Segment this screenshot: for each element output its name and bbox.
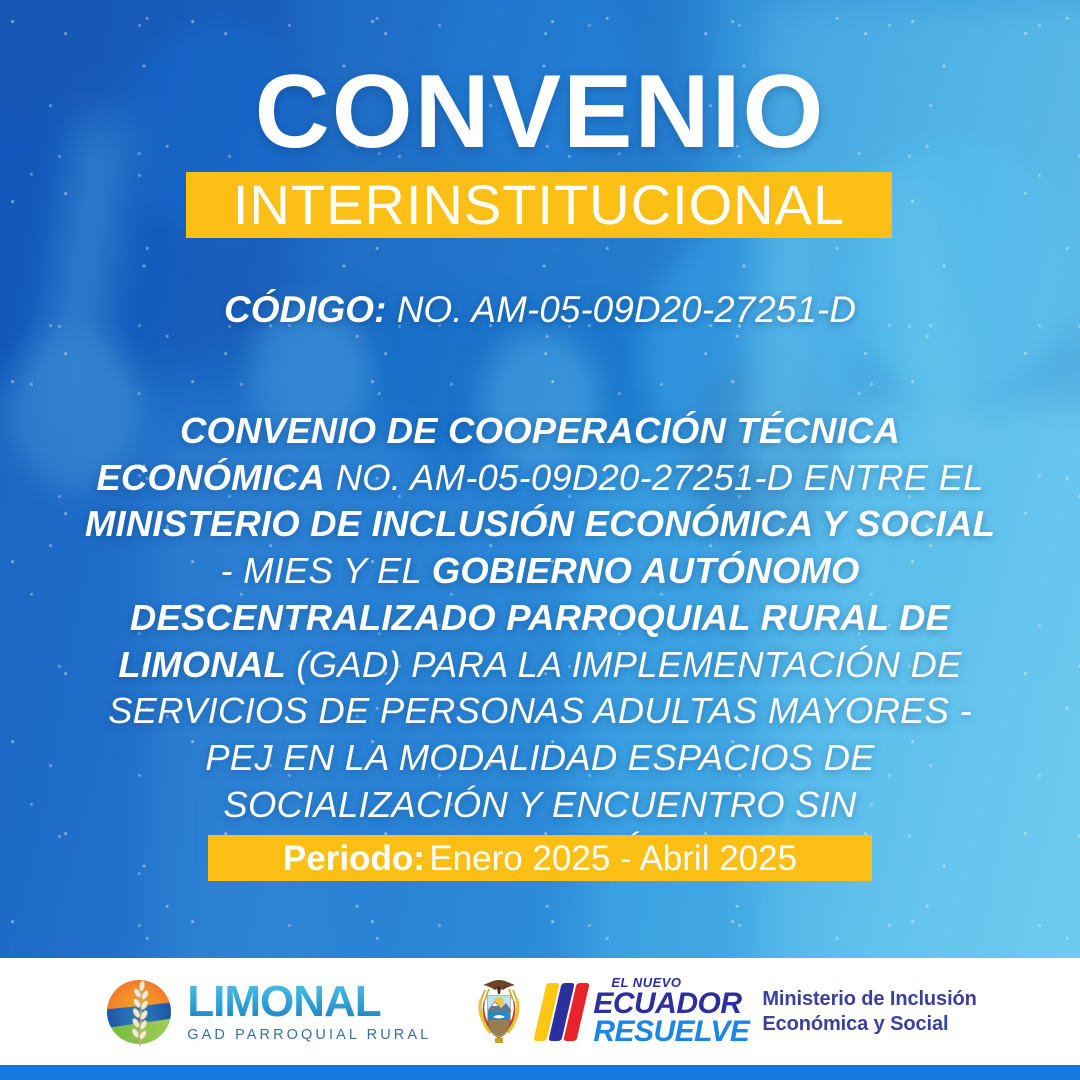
agreement-description: CONVENIO DE COOPERACIÓN TÉCNICA ECONÓMIC…: [78, 408, 1002, 875]
ecuador-flag-stripes-icon: [540, 983, 586, 1041]
periodo-banner: Periodo: Enero 2025 - Abril 2025: [208, 835, 872, 881]
government-logos: EL NUEVO ECUADOR RESUELVE Ministerio de …: [471, 976, 976, 1048]
codigo-label: CÓDIGO:: [224, 289, 386, 330]
body-segment-2: NO. AM-05-09D20-27251-D ENTRE EL: [325, 457, 983, 498]
ecuador-resuelve-logo: EL NUEVO ECUADOR RESUELVE: [540, 976, 749, 1047]
page-title: CONVENIO: [0, 62, 1080, 164]
limonal-logo: LIMONAL GAD PARROQUIAL RURAL: [103, 976, 431, 1048]
limonal-wordmark: LIMONAL GAD PARROQUIAL RURAL: [187, 980, 431, 1043]
ecuador-coat-of-arms-icon: [471, 976, 527, 1048]
limonal-name: LIMONAL: [187, 980, 431, 1024]
poster-canvas: CONVENIO INTERINSTITUCIONAL CÓDIGO: NO. …: [0, 0, 1080, 1080]
ecuador-wordmark: EL NUEVO ECUADOR RESUELVE: [593, 976, 749, 1047]
body-segment-3: MINISTERIO DE INCLUSIÓN ECONÓMICA Y SOCI…: [85, 503, 995, 544]
ministry-line-1: Ministerio de Inclusión: [762, 987, 976, 1011]
ministry-line-2: Económica y Social: [762, 1012, 976, 1036]
codigo-value: NO. AM-05-09D20-27251-D: [397, 289, 856, 330]
codigo-line: CÓDIGO: NO. AM-05-09D20-27251-D: [0, 288, 1080, 332]
ecuador-line-3: RESUELVE: [593, 1017, 749, 1047]
limonal-emblem-icon: [103, 976, 175, 1048]
body-segment-4: - MIES Y EL: [220, 550, 431, 591]
periodo-value: Enero 2025 - Abril 2025: [429, 841, 797, 876]
footer-logo-bar: LIMONAL GAD PARROQUIAL RURAL: [0, 958, 1080, 1065]
subtitle-text: INTERINSTITUCIONAL: [233, 177, 845, 233]
ministry-name: Ministerio de Inclusión Económica y Soci…: [762, 987, 976, 1036]
bottom-accent-strip: [0, 1065, 1080, 1080]
limonal-tagline: GAD PARROQUIAL RURAL: [187, 1028, 431, 1043]
subtitle-banner: INTERINSTITUCIONAL: [186, 172, 892, 238]
wheat-icon: [129, 978, 151, 1048]
periodo-label: Periodo:: [283, 841, 425, 876]
